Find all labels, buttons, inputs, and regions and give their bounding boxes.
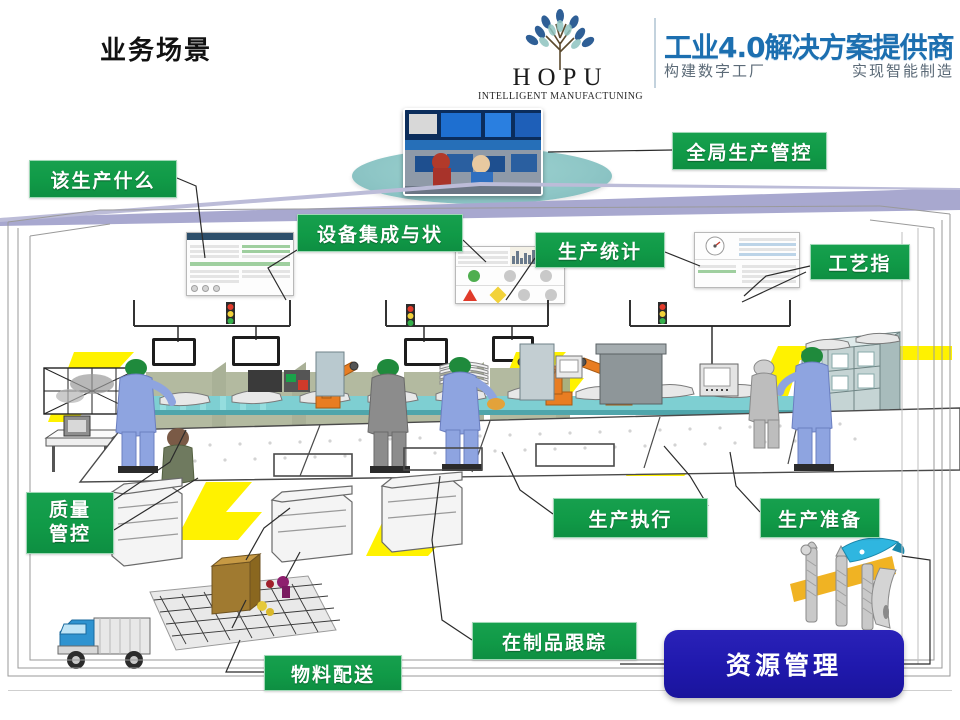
callout-what-to-produce[interactable]: 该生产什么 bbox=[29, 160, 177, 198]
callout-label-line1: 质量 bbox=[49, 499, 91, 523]
callout-label: 物料配送 bbox=[291, 660, 375, 687]
material-crate bbox=[212, 554, 260, 614]
delivery-truck bbox=[58, 618, 150, 669]
callout-label: 该生产什么 bbox=[50, 166, 155, 193]
callout-material-delivery[interactable]: 物料配送 bbox=[264, 655, 402, 691]
gauge-icon-small bbox=[801, 545, 811, 555]
factory-scene bbox=[0, 0, 960, 720]
callout-wip-tracking[interactable]: 在制品跟踪 bbox=[472, 622, 637, 660]
production-line bbox=[0, 0, 960, 720]
callout-label: 生产执行 bbox=[588, 505, 672, 532]
callout-label: 设备集成与状 bbox=[317, 220, 443, 247]
slide-canvas: 业务场景 HOPU INTELLIGENT MANUFACTUNING bbox=[0, 0, 960, 720]
callout-equipment-integration[interactable]: 设备集成与状 bbox=[297, 214, 463, 252]
callout-label: 资源管理 bbox=[726, 646, 842, 682]
callout-label: 生产统计 bbox=[558, 237, 642, 264]
callout-label: 工艺指 bbox=[828, 249, 891, 276]
callout-label: 在制品跟踪 bbox=[502, 628, 607, 655]
callout-label: 全局生产管控 bbox=[686, 138, 812, 165]
warehouse-grid bbox=[150, 554, 340, 650]
callout-resource-management[interactable]: 资源管理 bbox=[664, 630, 904, 698]
callout-global-production-control[interactable]: 全局生产管控 bbox=[672, 132, 827, 170]
callout-production-statistics[interactable]: 生产统计 bbox=[535, 232, 665, 268]
callout-process-guidance[interactable]: 工艺指 bbox=[810, 244, 910, 280]
callout-production-execution[interactable]: 生产执行 bbox=[553, 498, 708, 538]
callout-label-line2: 管控 bbox=[49, 523, 91, 547]
callout-quality-control[interactable]: 质量 管控 bbox=[26, 492, 114, 554]
callout-production-preparation[interactable]: 生产准备 bbox=[760, 498, 880, 538]
callout-label: 生产准备 bbox=[778, 505, 862, 532]
